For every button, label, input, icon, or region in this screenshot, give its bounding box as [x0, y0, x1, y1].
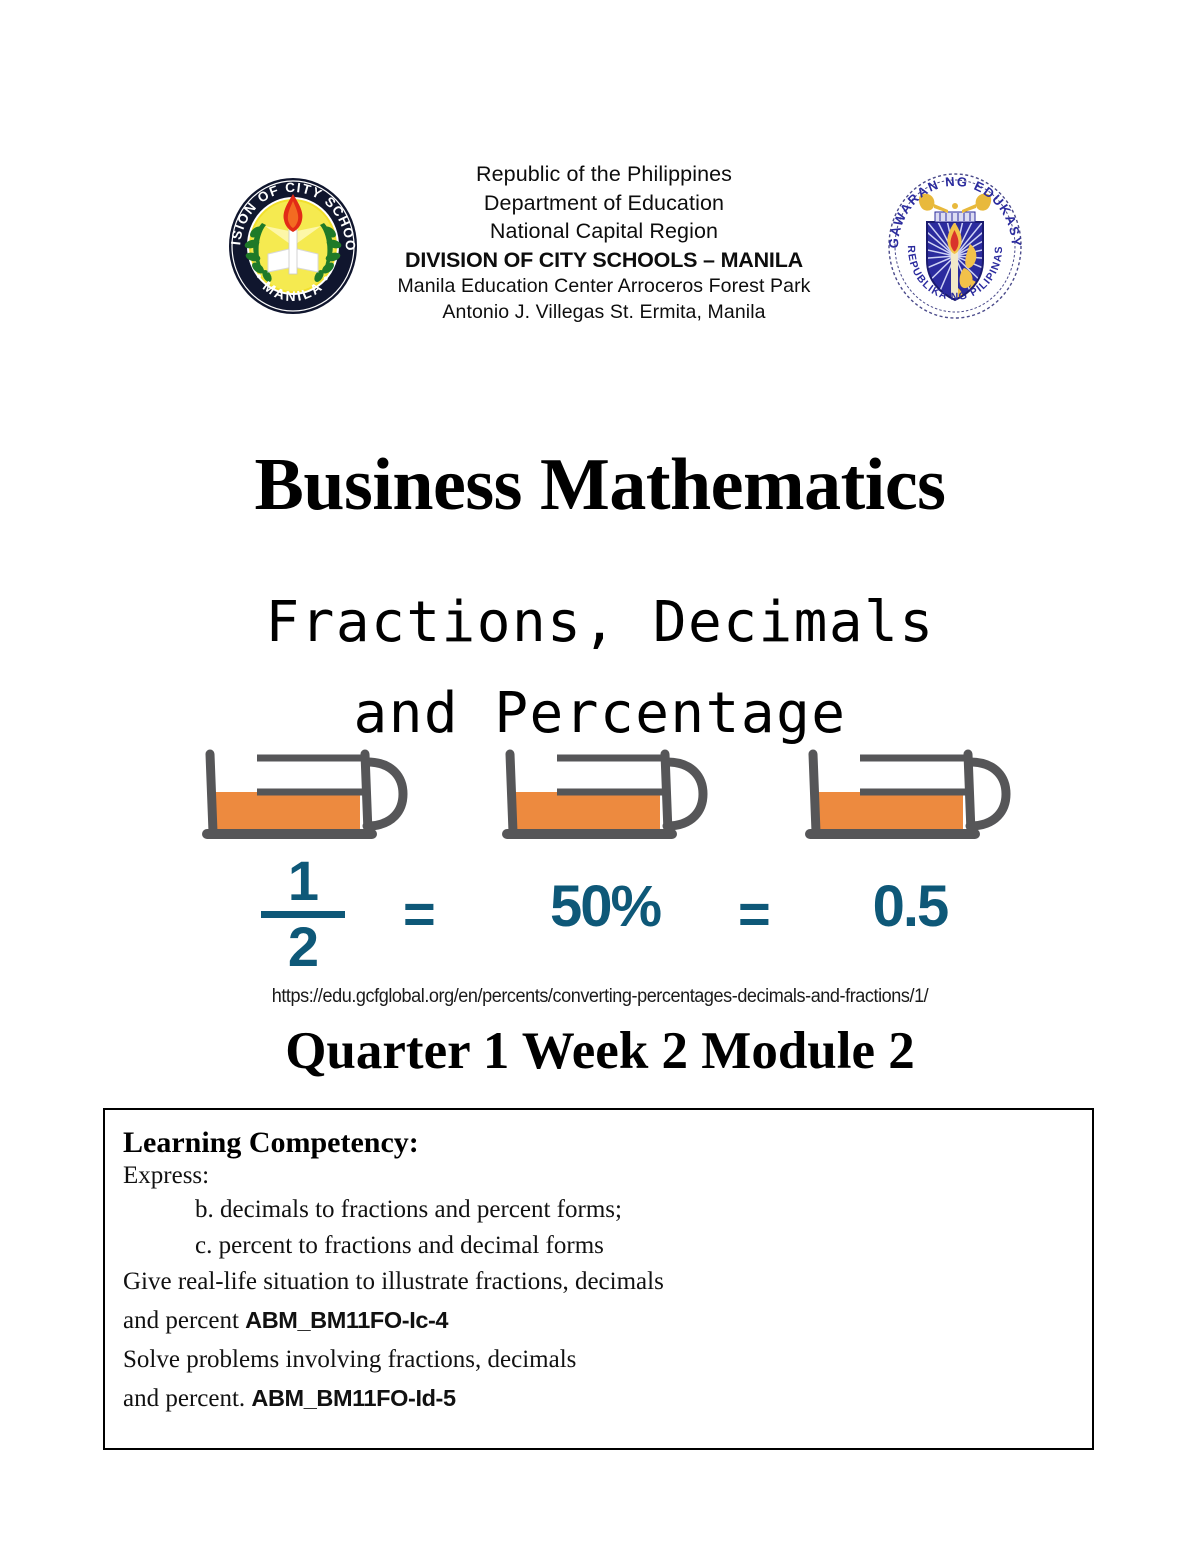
fraction-decimal-percent-illustration: 1 2 = 50% = 0.5 https://edu.gcfglobal.or…	[0, 748, 1200, 998]
competency-line-4: and percent. ABM_BM11FO-Id-5	[123, 1386, 1074, 1411]
page-title: Business Mathematics	[0, 443, 1200, 528]
measuring-cup-icon	[800, 748, 1038, 848]
fraction-numerator: 1	[248, 854, 358, 907]
percent-value: 50%	[515, 878, 695, 936]
equals-sign-2: =	[738, 886, 771, 942]
header-line-department: Department of Education	[378, 189, 830, 218]
document-header: DIVISION OF CITY SCHOOLS • MANILA • Repu…	[0, 160, 1200, 330]
competency-line-3: Solve problems involving fractions, deci…	[123, 1347, 1074, 1372]
subtitle-line-2: and Percentage	[0, 669, 1200, 760]
header-line-address-1: Manila Education Center Arroceros Forest…	[378, 274, 830, 300]
header-line-address-2: Antonio J. Villegas St. Ermita, Manila	[378, 300, 830, 326]
measuring-cup-icon	[197, 748, 435, 848]
header-agency-text: Republic of the Philippines Department o…	[378, 160, 830, 326]
subtitle-line-1: Fractions, Decimals	[0, 578, 1200, 669]
competency-item-c: c. percent to fractions and decimal form…	[123, 1233, 1074, 1258]
quarter-week-module-label: Quarter 1 Week 2 Module 2	[0, 1021, 1200, 1081]
header-line-region: National Capital Region	[378, 217, 830, 246]
decimal-value: 0.5	[820, 878, 1000, 936]
equals-sign-1: =	[403, 886, 436, 942]
measuring-cups-row	[0, 748, 1200, 848]
department-of-education-seal: KAGAWARAN NG EDUKASYON REPUBLIKA NG PILI…	[878, 164, 1032, 322]
header-line-division: DIVISION OF CITY SCHOOLS – MANILA	[378, 246, 830, 275]
competency-code-2: ABM_BM11FO-Id-5	[251, 1385, 455, 1411]
fraction-denominator: 2	[248, 920, 358, 973]
competency-line-4-prefix: and percent.	[123, 1385, 251, 1412]
competency-line-2-prefix: and percent	[123, 1307, 245, 1334]
header-line-republic: Republic of the Philippines	[378, 160, 830, 189]
competency-item-b: b. decimals to fractions and percent for…	[123, 1197, 1074, 1222]
learning-competency-heading: Learning Competency:	[123, 1126, 1074, 1160]
image-source-url: https://edu.gcfglobal.org/en/percents/co…	[30, 986, 1170, 1008]
competency-line-2: and percent ABM_BM11FO-Ic-4	[123, 1308, 1074, 1333]
express-label: Express:	[123, 1163, 1074, 1188]
measuring-cup-icon	[497, 748, 735, 848]
learning-competency-box: Learning Competency: Express: b. decimal…	[103, 1108, 1094, 1450]
competency-code-1: ABM_BM11FO-Ic-4	[245, 1307, 448, 1333]
equivalence-row: 1 2 = 50% = 0.5	[0, 856, 1200, 971]
fraction-one-half: 1 2	[248, 854, 358, 973]
page-subtitle: Fractions, Decimals and Percentage	[0, 578, 1200, 759]
division-of-city-schools-manila-seal: DIVISION OF CITY SCHOOLS • MANILA •	[220, 168, 366, 320]
competency-line-1: Give real-life situation to illustrate f…	[123, 1269, 1074, 1294]
